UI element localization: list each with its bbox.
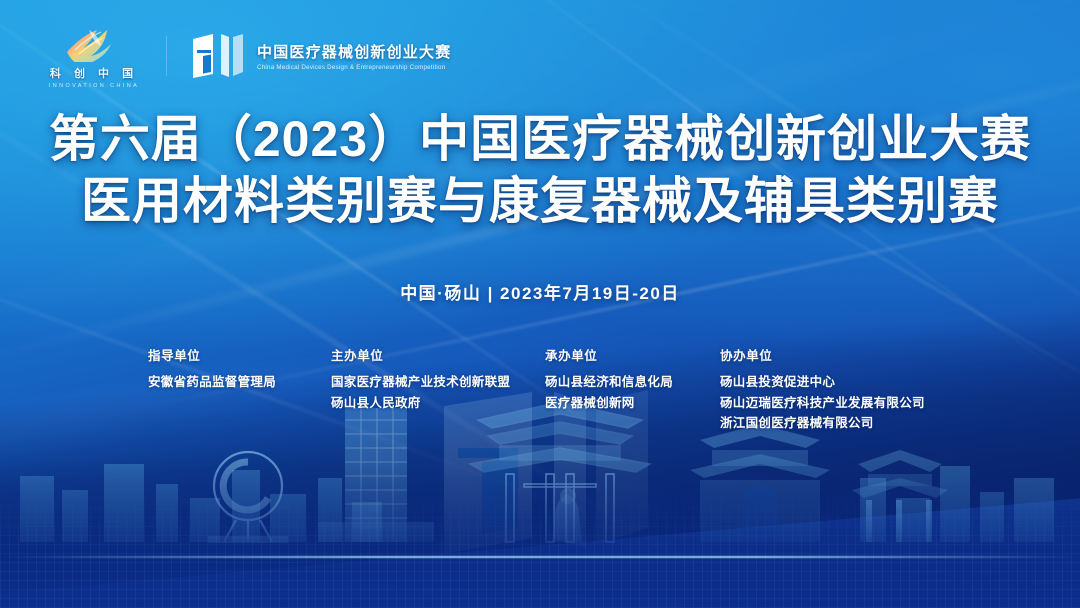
logo-competition: 中国医疗器械创新创业大赛 China Medical Devices Desig… <box>191 32 451 80</box>
organizer-column-host: 主办单位 国家医疗器械产业技术创新联盟 砀山县人民政府 <box>331 345 545 434</box>
organizer-unit: 国家医疗器械产业技术创新联盟 <box>331 372 545 393</box>
event-location-date: 中国·砀山 | 2023年7月19日-20日 <box>0 279 1080 304</box>
organizer-unit: 砀山迈瑞医疗科技产业发展有限公司 <box>720 393 925 414</box>
organizer-role-label: 主办单位 <box>331 345 545 364</box>
logo-divider <box>166 36 167 76</box>
logo-kechuang-china: 科 创 中 国 INNOVATION CHINA <box>46 22 142 89</box>
organizer-role-label: 协办单位 <box>720 345 925 364</box>
bottom-grid-texture <box>0 488 1080 608</box>
organizer-column-guidance: 指导单位 安徽省药品监督管理局 <box>148 345 331 434</box>
event-poster: 科 创 中 国 INNOVATION CHINA 中国医疗器械创新创业大赛 Ch… <box>0 0 1080 608</box>
organizer-role-label: 承办单位 <box>545 345 720 364</box>
organizer-unit: 砀山县投资促进中心 <box>720 372 925 393</box>
organizer-unit: 浙江国创医疗器械有限公司 <box>720 413 925 434</box>
competition-english-name: China Medical Devices Design & Entrepren… <box>257 64 451 71</box>
kechuang-english-name: INNOVATION CHINA <box>49 83 139 89</box>
organizer-unit: 砀山县经济和信息化局 <box>545 372 720 393</box>
kechuang-chinese-name: 科 创 中 国 <box>50 65 138 81</box>
poster-title: 第六届（2023）中国医疗器械创新创业大赛 医用材料类别赛与康复器械及辅具类别赛 <box>0 108 1080 232</box>
phoenix-bird-emblem-icon <box>61 22 127 62</box>
title-line-1: 第六届（2023）中国医疗器械创新创业大赛 <box>0 108 1080 170</box>
organizer-column-coorganizer: 协办单位 砀山县投资促进中心 砀山迈瑞医疗科技产业发展有限公司 浙江国创医疗器械… <box>720 345 925 434</box>
horizon-light-line <box>0 556 1080 558</box>
organizer-unit: 医疗器械创新网 <box>545 393 720 414</box>
organizer-unit: 安徽省药品监督管理局 <box>148 372 331 393</box>
organizer-columns: 指导单位 安徽省药品监督管理局 主办单位 国家医疗器械产业技术创新联盟 砀山县人… <box>148 345 948 434</box>
competition-chinese-name: 中国医疗器械创新创业大赛 <box>257 41 451 62</box>
organizer-unit: 砀山县人民政府 <box>331 393 545 414</box>
logo-bar: 科 创 中 国 INNOVATION CHINA 中国医疗器械创新创业大赛 Ch… <box>46 22 451 89</box>
title-line-2: 医用材料类别赛与康复器械及辅具类别赛 <box>0 170 1080 232</box>
open-door-emblem-icon <box>191 32 245 80</box>
organizer-role-label: 指导单位 <box>148 345 331 364</box>
organizer-column-undertaker: 承办单位 砀山县经济和信息化局 医疗器械创新网 <box>545 345 720 434</box>
